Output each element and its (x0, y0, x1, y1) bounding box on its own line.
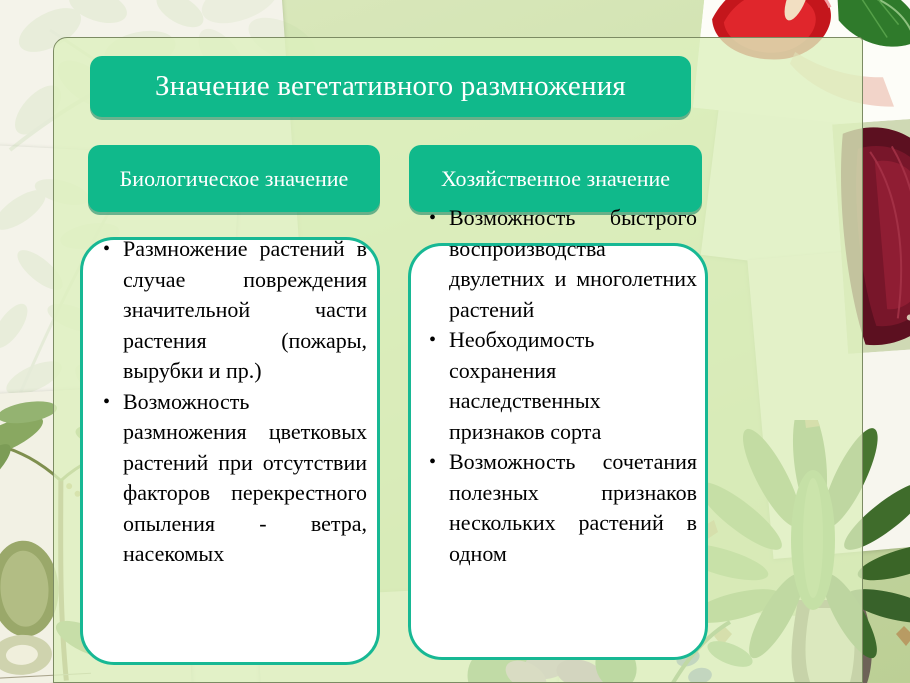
slide-title-box: Значение вегетативного размножения (90, 56, 691, 117)
bullet-text: Возможность быстрого воспроизводства дву… (449, 203, 697, 325)
bullet-list-biological: Размножение растений в случае повреждени… (99, 234, 367, 570)
column-heading-label: Биологическое значение (120, 165, 349, 193)
list-item: Необходимость сохранения наследственных … (425, 325, 697, 447)
list-item: Возможность сочетания полезных признаков… (425, 447, 697, 569)
list-item: Возможность размножения цветковых растен… (99, 387, 367, 570)
slide-canvas: Значение вегетативного размножения Биоло… (0, 0, 910, 683)
column-heading-label: Хозяйственное значение (441, 165, 670, 193)
column-heading-biological: Биологическое значение (88, 145, 380, 212)
list-item: Размножение растений в случае повреждени… (99, 234, 367, 387)
list-item: Возможность быстрого воспроизводства дву… (425, 203, 697, 325)
bullet-text: Возможность размножения цветковых растен… (123, 387, 367, 570)
bullet-text: Возможность сочетания полезных признаков… (449, 447, 697, 569)
bullet-text: Необходимость сохранения наследственных … (449, 325, 697, 447)
column-heading-economic: Хозяйственное значение (409, 145, 702, 212)
page-title: Значение вегетативного размножения (155, 72, 626, 101)
bullet-text: Размножение растений в случае повреждени… (123, 234, 367, 387)
bullet-list-economic: Возможность быстрого воспроизводства дву… (425, 203, 697, 569)
